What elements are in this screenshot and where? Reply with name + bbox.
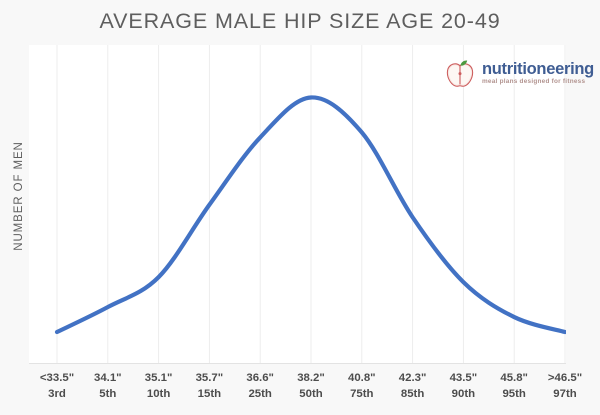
x-tick-size: 42.3" [385, 371, 441, 387]
x-tick-percentile: 3rd [29, 387, 85, 403]
plot-area [29, 45, 566, 363]
x-axis-tick: 38.2"50th [283, 371, 339, 402]
x-tick-size: <33.5" [29, 371, 85, 387]
x-axis-tick: >46.5"97th [537, 371, 593, 402]
x-tick-size: 45.8" [486, 371, 542, 387]
x-tick-size: 43.5" [435, 371, 491, 387]
brand-logo: nutritioneering meal plans designed for … [443, 55, 589, 91]
x-tick-size: 38.2" [283, 371, 339, 387]
page-title: AVERAGE MALE HIP SIZE AGE 20-49 [0, 9, 600, 34]
x-axis-tick: 34.1"5th [80, 371, 136, 402]
x-tick-size: 35.1" [131, 371, 187, 387]
apple-icon [443, 56, 477, 90]
x-axis-tick: 45.8"95th [486, 371, 542, 402]
x-axis-tick: 35.1"10th [131, 371, 187, 402]
x-tick-size: 34.1" [80, 371, 136, 387]
brand-text-block: nutritioneering meal plans designed for … [482, 61, 594, 86]
x-axis-tick: 42.3"85th [385, 371, 441, 402]
x-tick-size: 40.8" [334, 371, 390, 387]
x-axis-line [29, 363, 566, 364]
x-tick-size: >46.5" [537, 371, 593, 387]
distribution-curve [29, 45, 566, 363]
x-tick-size: 35.7" [181, 371, 237, 387]
x-axis-tick: 35.7"15th [181, 371, 237, 402]
y-axis-label: NUMBER OF MEN [13, 116, 25, 276]
x-tick-percentile: 75th [334, 387, 390, 403]
x-axis-tick: 36.6"25th [232, 371, 288, 402]
x-tick-percentile: 90th [435, 387, 491, 403]
x-tick-percentile: 15th [181, 387, 237, 403]
x-tick-percentile: 85th [385, 387, 441, 403]
x-tick-percentile: 95th [486, 387, 542, 403]
chart-container: AVERAGE MALE HIP SIZE AGE 20-49 NUMBER O… [0, 0, 600, 415]
x-axis-tick: 40.8"75th [334, 371, 390, 402]
brand-name: nutritioneering [482, 61, 594, 78]
x-tick-percentile: 5th [80, 387, 136, 403]
x-tick-percentile: 25th [232, 387, 288, 403]
brand-tagline: meal plans designed for fitness [482, 79, 594, 85]
x-axis-tick: <33.5"3rd [29, 371, 85, 402]
x-tick-percentile: 10th [131, 387, 187, 403]
x-tick-size: 36.6" [232, 371, 288, 387]
x-axis-tick: 43.5"90th [435, 371, 491, 402]
x-tick-percentile: 50th [283, 387, 339, 403]
x-tick-percentile: 97th [537, 387, 593, 403]
x-axis-tick-labels: <33.5"3rd34.1"5th35.1"10th35.7"15th36.6"… [29, 371, 566, 411]
